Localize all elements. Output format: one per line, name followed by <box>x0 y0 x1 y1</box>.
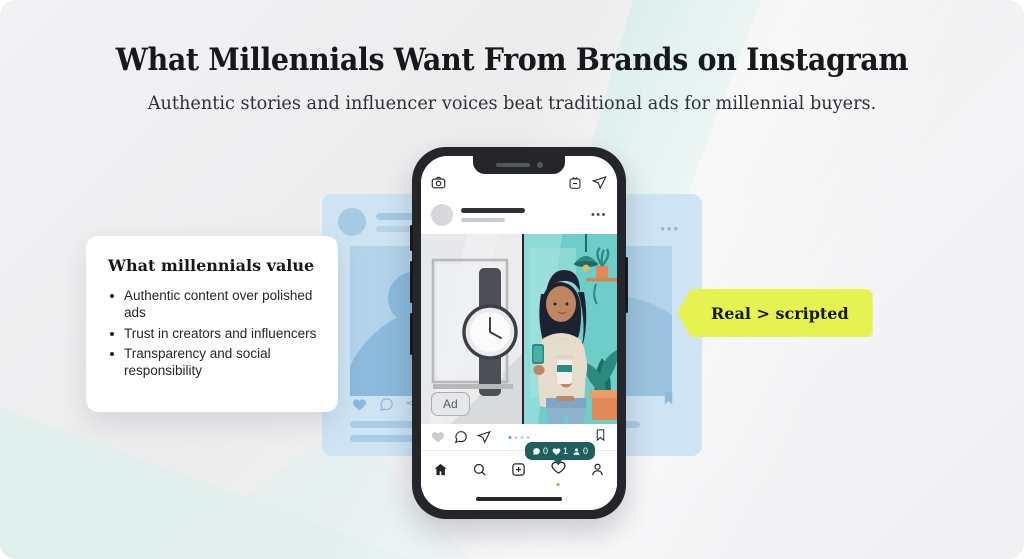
page-title: What Millennials Want From Brands on Ins… <box>41 42 983 78</box>
value-card-heading: What millennials value <box>108 256 318 275</box>
heart-icon[interactable] <box>431 430 445 444</box>
save-action[interactable] <box>594 427 607 448</box>
background-card-actions <box>352 397 421 412</box>
igtv-icon[interactable] <box>568 176 582 190</box>
engagement-followers-count: 0 <box>583 446 588 456</box>
creator-photo-half <box>522 234 617 424</box>
home-icon[interactable] <box>433 462 448 477</box>
split-divider <box>522 234 524 424</box>
heart-icon <box>552 447 561 456</box>
callout-badge: Real > scripted <box>677 289 873 337</box>
callout-badge-label: Real > scripted <box>711 304 849 323</box>
value-card-list: Authentic content over polished ads Trus… <box>108 287 318 379</box>
home-indicator <box>476 497 562 501</box>
carousel-indicator <box>509 436 530 439</box>
list-item: Transparency and social responsibility <box>108 345 318 380</box>
engagement-tooltip: 0 1 0 <box>525 442 595 460</box>
engagement-comments-count: 0 <box>543 446 548 456</box>
ad-photo-half: Ad <box>421 234 522 424</box>
infographic-canvas: What Millennials Want From Brands on Ins… <box>0 0 1024 559</box>
instagram-post-header: ••• <box>421 196 617 234</box>
engagement-followers: 0 <box>572 446 588 456</box>
profile-icon[interactable] <box>590 462 605 477</box>
phone-screen: ••• <box>421 156 617 510</box>
engagement-likes-count: 1 <box>563 446 568 456</box>
phone-notch <box>473 156 565 174</box>
background-card-save <box>661 389 676 412</box>
send-icon[interactable] <box>592 175 607 190</box>
add-post-icon[interactable] <box>511 462 526 477</box>
creator-illustration <box>522 234 617 424</box>
background-card-more-icon: ••• <box>660 222 680 235</box>
bookmark-icon <box>661 389 676 407</box>
ad-label-chip: Ad <box>431 392 470 416</box>
profile-icon <box>572 447 581 456</box>
engagement-likes: 1 <box>552 446 568 456</box>
post-more-icon[interactable]: ••• <box>591 210 607 221</box>
comment-icon <box>532 447 541 456</box>
camera-icon[interactable] <box>431 175 446 190</box>
activity-badge-dot <box>557 483 560 486</box>
header: What Millennials Want From Brands on Ins… <box>0 42 1024 114</box>
bookmark-icon[interactable] <box>594 427 607 443</box>
comment-icon[interactable] <box>454 430 468 444</box>
send-icon[interactable] <box>477 430 491 444</box>
search-icon[interactable] <box>472 462 487 477</box>
heart-icon <box>352 397 367 412</box>
avatar[interactable] <box>431 204 453 226</box>
username-placeholder <box>461 208 525 222</box>
list-item: Authentic content over polished ads <box>108 287 318 322</box>
engagement-comments: 0 <box>532 446 548 456</box>
comment-icon <box>379 397 394 412</box>
list-item: Trust in creators and influencers <box>108 325 318 342</box>
page-subtitle: Authentic stories and influencer voices … <box>36 92 988 114</box>
instagram-post-media: Ad <box>421 234 617 424</box>
value-card: What millennials value Authentic content… <box>86 236 338 412</box>
background-card-avatar <box>338 208 366 236</box>
phone-mockup: ••• <box>412 147 626 519</box>
